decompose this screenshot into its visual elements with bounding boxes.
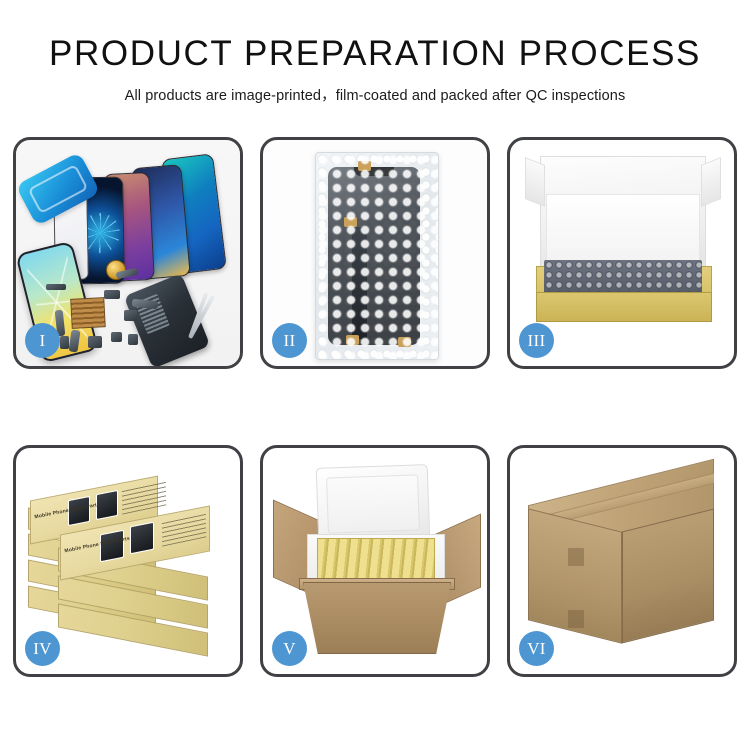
gold-connector-icon [358,161,371,171]
process-step-panel-6[interactable]: VI [507,445,737,677]
page-header: PRODUCT PREPARATION PROCESS All products… [0,36,750,105]
screw-tray-icon [70,297,106,329]
box-window-image [130,522,154,555]
box-stack-icon: Mobile Phone Spare Parts Mobile Phone Sp… [24,462,238,662]
process-step-grid: I II [13,137,737,677]
component-chip-icon [124,310,137,321]
tweezers-icon [182,290,228,342]
foam-sheet-icon [546,194,700,268]
bubble-wrap-bag-icon [315,152,439,360]
component-chip-icon [46,284,66,290]
process-step-panel-1[interactable]: I [13,137,243,369]
step-badge-2: II [272,323,307,358]
step-badge-3: III [519,323,554,358]
process-step-panel-5[interactable]: V [260,445,490,677]
gold-connector-icon [398,337,411,347]
gold-connector-icon [344,217,357,227]
component-chip-icon [104,290,120,299]
process-step-panel-3[interactable]: III [507,137,737,369]
component-chip-icon [111,332,122,342]
component-chip-icon [128,334,138,345]
carton-body-icon [303,582,451,654]
carton-label-patch-icon [568,610,584,628]
bubble-wrap-fill-icon [544,260,702,294]
step-badge-4: IV [25,631,60,666]
step-badge-1: I [25,323,60,358]
process-step-panel-4[interactable]: Mobile Phone Spare Parts Mobile Phone Sp… [13,445,243,677]
gold-connector-icon [346,335,359,345]
styrofoam-lid-icon [316,464,431,544]
carton-right-face-icon [622,509,714,644]
packed-screen-icon [328,167,420,345]
step-badge-5: V [272,631,307,666]
yellow-box-front-icon [536,292,712,322]
product-preparation-process-page: PRODUCT PREPARATION PROCESS All products… [0,0,750,750]
screen-flex-cable-icon [352,227,367,339]
process-step-panel-2[interactable]: II [260,137,490,369]
carton-label-patch-icon [568,548,584,566]
page-title: PRODUCT PREPARATION PROCESS [0,36,750,73]
step-badge-6: VI [519,631,554,666]
page-subtitle: All products are image-printed，film-coat… [0,84,750,105]
yellow-boxes-fill-icon [317,538,435,580]
component-chip-icon [60,336,69,349]
component-chip-icon [88,336,102,348]
